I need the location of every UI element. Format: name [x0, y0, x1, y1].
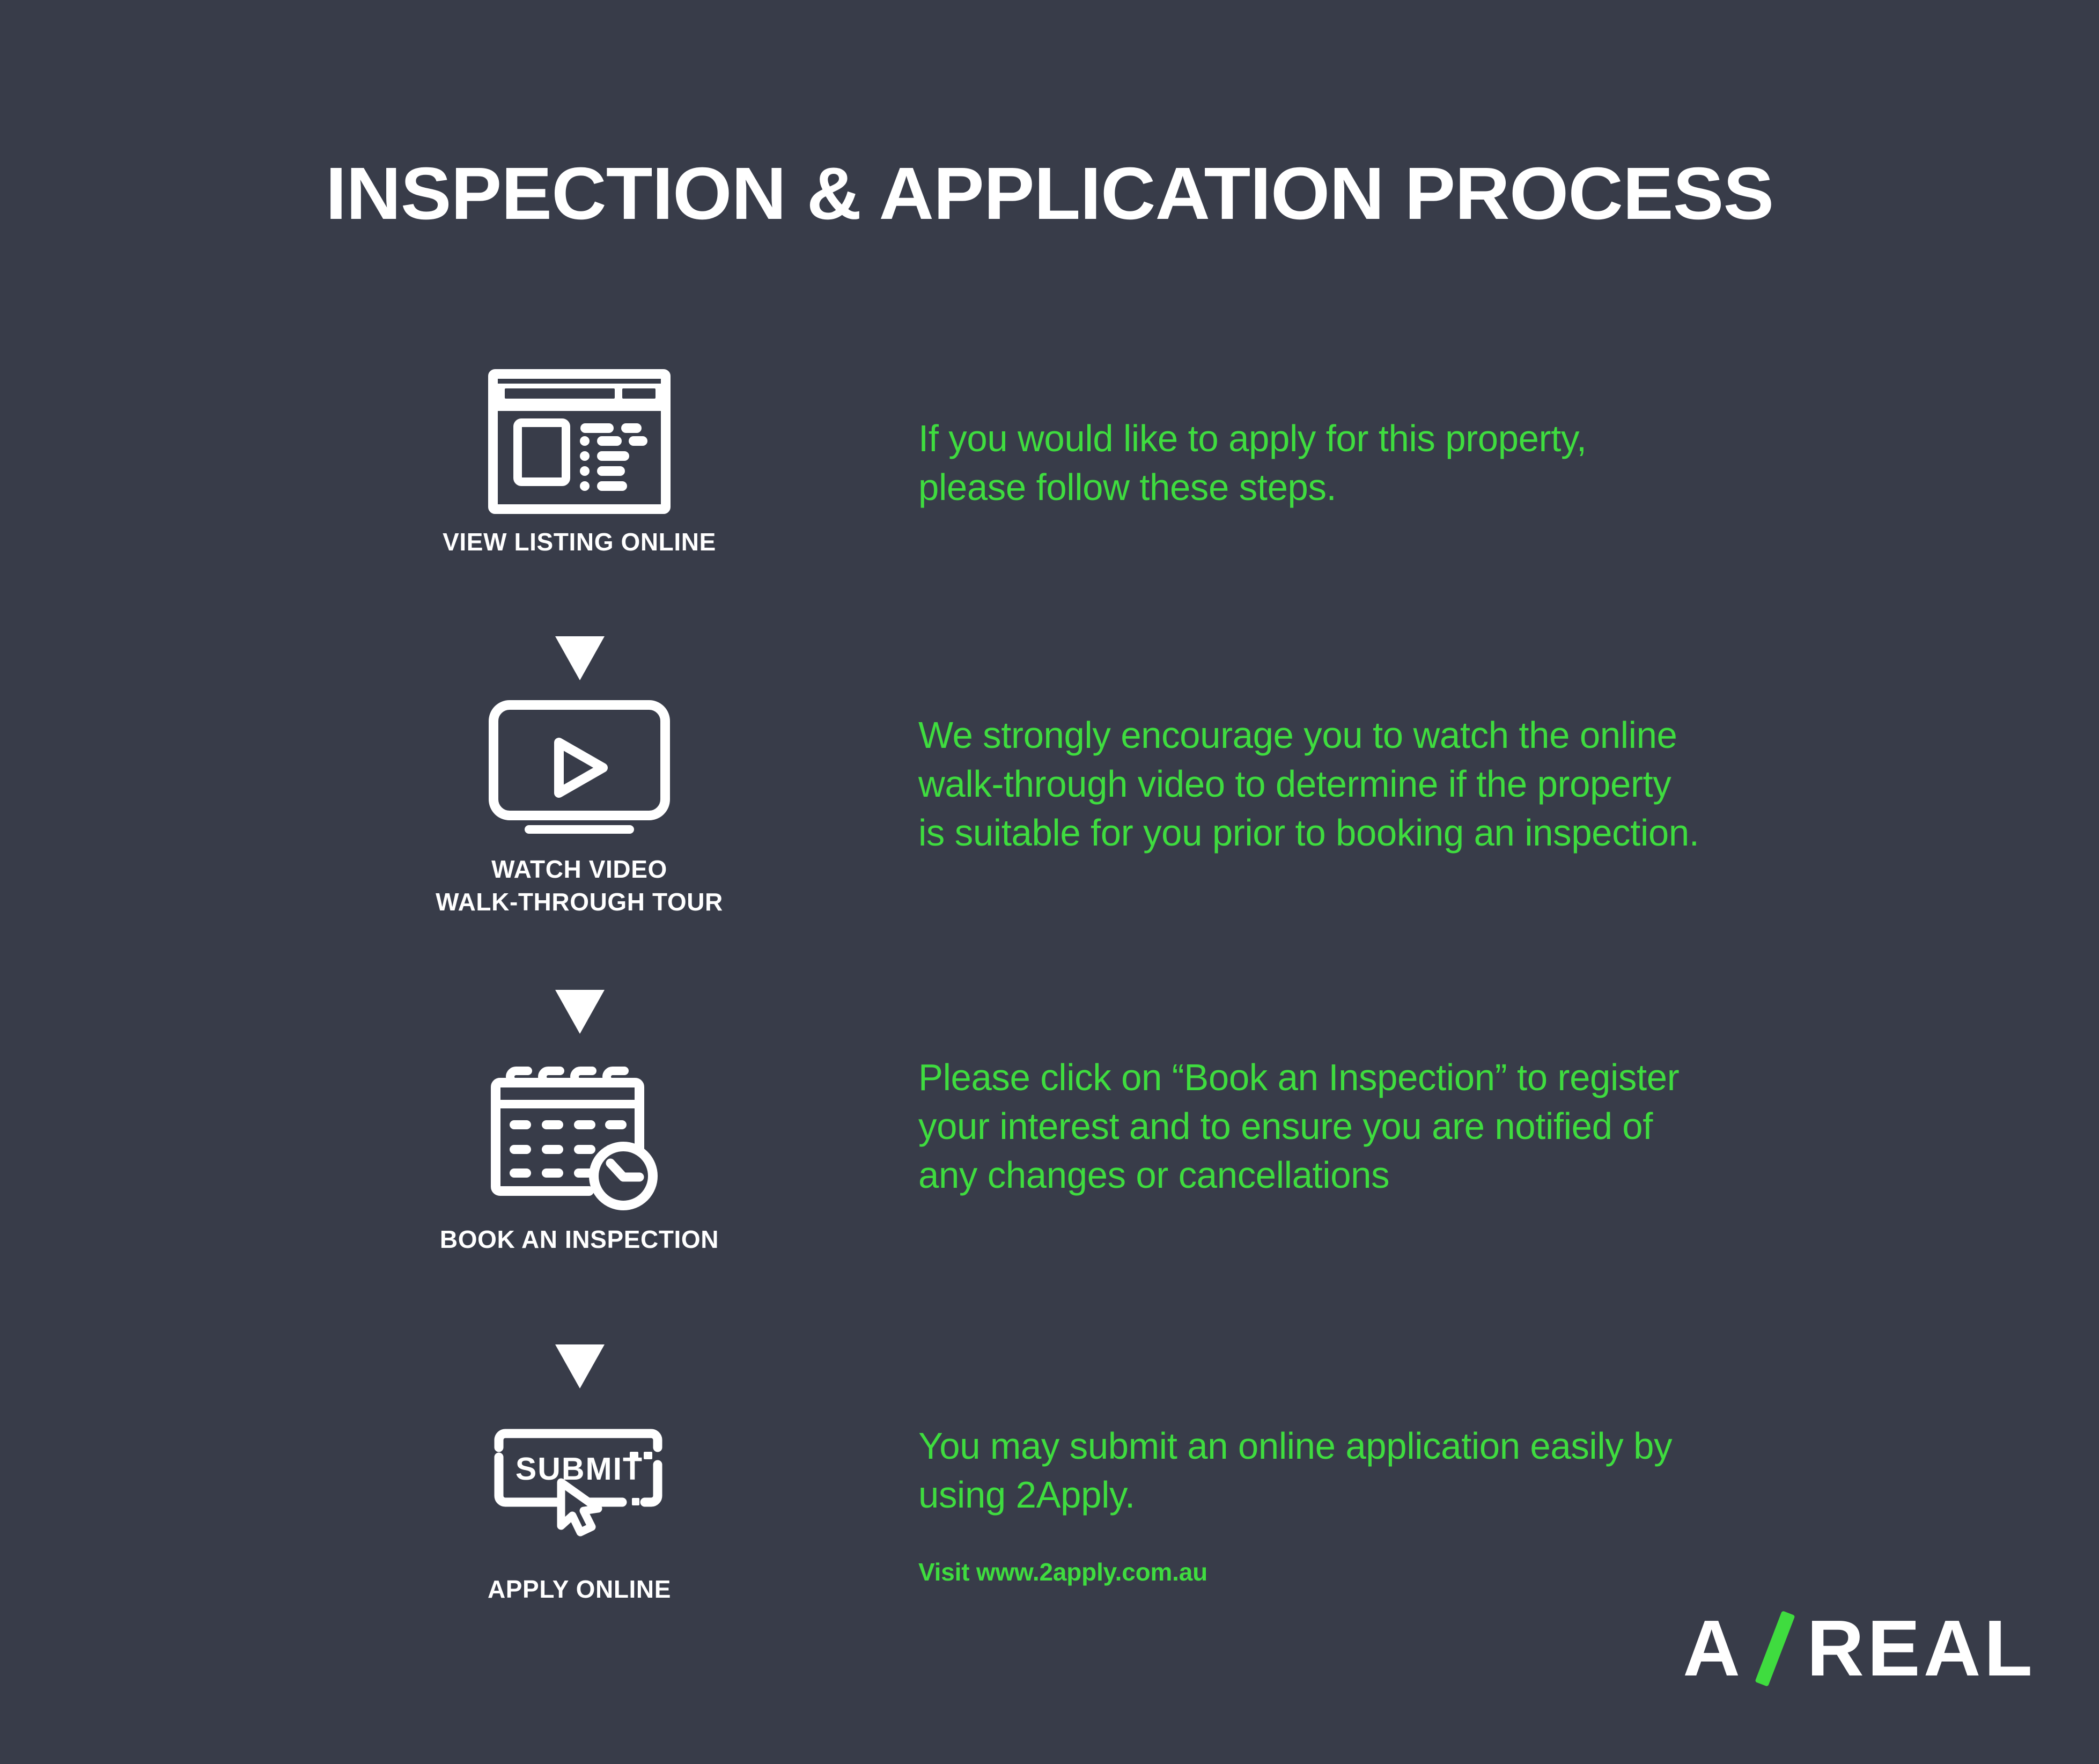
flow-arrow-2: [555, 990, 605, 1034]
step-book-inspection: BOOK AN INSPECTION: [333, 1050, 826, 1256]
visit-url-text[interactable]: Visit www.2apply.com.au: [918, 1557, 1207, 1586]
svg-text:SUBMIT: SUBMIT: [515, 1451, 643, 1487]
submit-button-cursor-icon: SUBMIT: [333, 1406, 826, 1561]
step-label-watch-video: WATCH VIDEO WALK-THROUGH TOUR: [333, 853, 826, 918]
logo-word-real: REAL: [1807, 1609, 2036, 1688]
page-title: INSPECTION & APPLICATION PROCESS: [0, 157, 2099, 231]
video-player-icon: [333, 697, 826, 841]
listing-window-icon: [333, 369, 826, 514]
calendar-clock-icon: [333, 1050, 826, 1211]
step-label-view-listing-online: VIEW LISTING ONLINE: [333, 526, 826, 558]
blurb-view-listing: If you would like to apply for this prop…: [918, 414, 1587, 512]
blurb-watch-video: We strongly encourage you to watch the o…: [918, 711, 1699, 857]
infographic-poster: INSPECTION & APPLICATION PROCESS: [0, 0, 2099, 1764]
step-label-book-inspection: BOOK AN INSPECTION: [333, 1223, 826, 1256]
blurb-book-inspection: Please click on “Book an Inspection” to …: [918, 1053, 1679, 1200]
brand-logo: A REAL: [1683, 1608, 2036, 1689]
logo-letter-a: A: [1683, 1609, 1743, 1688]
flow-arrow-1: [555, 636, 605, 680]
logo-slash-icon: [1743, 1608, 1807, 1689]
step-apply-online: SUBMIT APPLY ONLINE: [333, 1406, 826, 1606]
flow-arrow-3: [555, 1344, 605, 1388]
step-label-apply-online: APPLY ONLINE: [333, 1573, 826, 1606]
step-view-listing-online: VIEW LISTING ONLINE: [333, 369, 826, 558]
step-watch-video: WATCH VIDEO WALK-THROUGH TOUR: [333, 697, 826, 918]
blurb-apply-online: You may submit an online application eas…: [918, 1422, 1672, 1519]
